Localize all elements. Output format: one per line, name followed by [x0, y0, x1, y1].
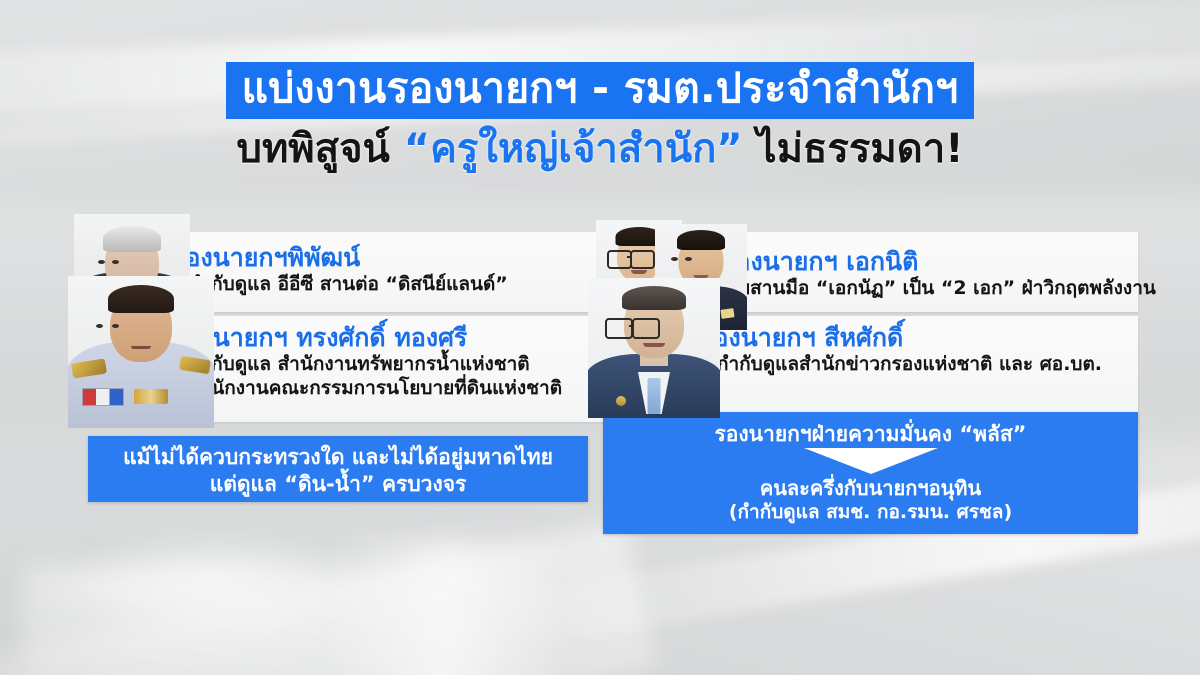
medal-ribbons [82, 388, 124, 406]
eye-right [112, 260, 119, 264]
headline-secondary-post: ไม่ธรรมดา! [743, 126, 964, 172]
panel-eknit-line-1: ผสานมือ “เอกนัฏ” เป็น “2 เอก” ฝ่าวิกฤตพล… [722, 276, 1156, 300]
panel-sihasak-title: รองนายกฯ สีหศักดิ์ [700, 324, 1102, 352]
hair [103, 226, 161, 252]
headline-secondary-quote: “ครูใหญ่เจ้าสำนัก” [404, 126, 743, 172]
panel-eknit-title: รองนายกฯ เอกนิติ [722, 248, 1156, 276]
eye-right [685, 257, 692, 261]
eyeglasses-bridge [629, 325, 634, 327]
photo-songsak [68, 276, 214, 428]
panel-sihasak-line-1-text: กำกับดูแลสำนักข่าวกรองแห่งชาติ และ ศอ.บต… [717, 353, 1102, 375]
callout-right-line-1: คนละครึ่งกับนายกฯอนุทิน [603, 476, 1138, 500]
photo-sihasak-figure [588, 278, 720, 418]
panel-pipat-line-1-text: กำกับดูแล อีอีซี สานต่อ “ดิสนีย์แลนด์” [189, 273, 508, 295]
callout-right-inner: รองนายกฯฝ่ายความมั่นคง “พลัส” คนละครึ่งก… [603, 412, 1138, 524]
callout-right: รองนายกฯฝ่ายความมั่นคง “พลัส” คนละครึ่งก… [603, 412, 1138, 534]
headline-block: แบ่งงานรองนายกฯ - รมต.ประจำสำนักฯ บทพิสู… [0, 62, 1200, 170]
panel-pipat: รองนายกฯพิพัฒน์ กำกับดูแล อีอีซี สานต่อ … [172, 244, 508, 296]
mouth-smile [631, 270, 647, 274]
callout-right-title: รองนายกฯฝ่ายความมั่นคง “พลัส” [603, 422, 1138, 447]
headline-primary: แบ่งงานรองนายกฯ - รมต.ประจำสำนักฯ [226, 62, 975, 119]
panel-sihasak: รองนายกฯ สีหศักดิ์ กำกับดูแลสำนักข่าวกรอ… [700, 324, 1102, 376]
necktie-lightblue [648, 378, 661, 414]
panel-pipat-title: รองนายกฯพิพัฒน์ [172, 244, 508, 272]
eye-right [112, 324, 119, 328]
panel-songsak-line-1-text: กำกับดูแล สำนักงานทรัพยากรน้ำแห่งชาติ [189, 353, 530, 375]
photo-sihasak [588, 278, 720, 418]
headline-secondary-pre: บทพิสูจน์ [237, 126, 404, 172]
callout-left-line-2: แต่ดูแล “ดิน-น้ำ” ครบวงจร [88, 471, 588, 498]
callout-left-inner: แม้ไม่ได้ควบกระทรวงใด และไม่ได้อยู่มหาดไ… [88, 436, 588, 499]
eyeglasses-left-lens [605, 318, 633, 339]
hair [622, 286, 686, 310]
lapel-pin [616, 396, 626, 406]
panel-songsak: รองนายกฯ ทรงศักดิ์ ทองศรี กำกับดูแล สำนั… [172, 324, 562, 401]
eyeglasses-bridge [627, 256, 632, 258]
callout-left: แม้ไม่ได้ควบกระทรวงใด และไม่ได้อยู่มหาดไ… [88, 436, 588, 502]
eye-left [671, 257, 678, 261]
panel-pipat-line-1: กำกับดูแล อีอีซี สานต่อ “ดิสนีย์แลนด์” [172, 272, 508, 296]
callout-left-line-1: แม้ไม่ได้ควบกระทรวงใด และไม่ได้อยู่มหาดไ… [88, 444, 588, 471]
headline-secondary: บทพิสูจน์ “ครูใหญ่เจ้าสำนัก” ไม่ธรรมดา! [0, 128, 1200, 170]
badge-gold [134, 389, 168, 404]
hair [677, 230, 725, 250]
eye-left [98, 260, 105, 264]
panel-songsak-line-1: กำกับดูแล สำนักงานทรัพยากรน้ำแห่งชาติ [172, 352, 562, 376]
panel-eknit: รองนายกฯ เอกนิติ ผสานมือ “เอกนัฏ” เป็น “… [722, 248, 1156, 300]
down-arrow-icon [804, 448, 938, 474]
panel-songsak-title: รองนายกฯ ทรงศักดิ์ ทองศรี [172, 324, 562, 352]
eyeglasses-left-lens [607, 250, 632, 269]
pocket-square [720, 308, 734, 319]
eyeglasses-right-lens [630, 250, 655, 269]
callout-right-line-2: (กำกับดูแล สมช. กอ.รมน. ศรชล) [603, 501, 1138, 524]
mouth [131, 346, 151, 349]
photo-songsak-figure [68, 276, 214, 428]
hair [108, 285, 174, 313]
panel-sihasak-line-1: กำกับดูแลสำนักข่าวกรองแห่งชาติ และ ศอ.บต… [700, 352, 1102, 376]
panel-eknit-line-1-text: ผสานมือ “เอกนัฏ” เป็น “2 เอก” ฝ่าวิกฤตพล… [739, 277, 1156, 299]
eyeglasses-right-lens [632, 318, 660, 339]
panel-songsak-line-2: สำนักงานคณะกรรมการนโยบายที่ดินแห่งชาติ [172, 376, 562, 400]
mouth-smile [643, 343, 665, 347]
eye-left [96, 324, 103, 328]
